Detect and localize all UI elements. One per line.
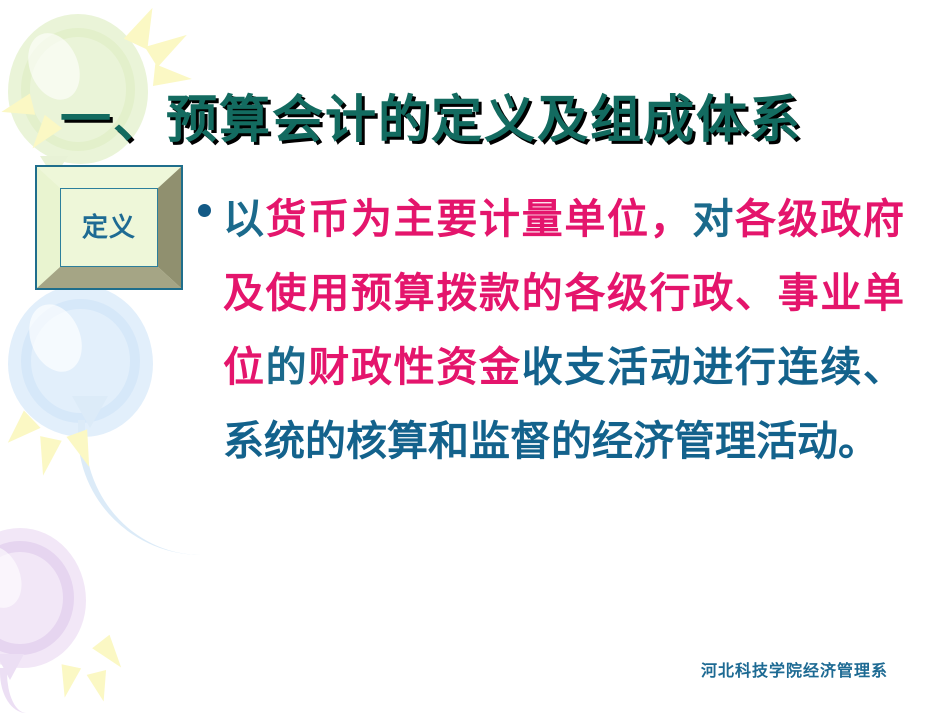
ray-icon xyxy=(24,115,62,155)
ray-icon xyxy=(0,411,41,452)
ray-icon xyxy=(55,664,81,699)
bevel-bottom xyxy=(37,267,181,288)
definition-box-label: 定义 xyxy=(82,215,136,241)
balloon-lavender-icon xyxy=(0,528,86,668)
ray-icon xyxy=(67,429,100,470)
footer-organization: 河北科技学院经济管理系 xyxy=(701,657,888,681)
text-segment: 以 xyxy=(223,195,266,243)
page-title: 一、预算会计的定义及组成体系 xyxy=(60,78,910,152)
text-segment: 货币为主要计量单位， xyxy=(266,195,693,243)
text-segment: 对 xyxy=(692,195,735,243)
balloon-blue-string-icon xyxy=(78,420,215,555)
ray-icon xyxy=(0,93,35,122)
definition-paragraph: 以货币为主要计量单位，对各级政府及使用预算拨款的各级行政、事业单位的财政性资金收… xyxy=(223,182,904,478)
ray-icon xyxy=(92,635,130,675)
bullet-dot-icon xyxy=(198,204,211,217)
balloon-lavender-knot-icon xyxy=(0,654,24,680)
text-segment: 财政性资金 xyxy=(308,343,521,391)
balloon-lavender-string-icon xyxy=(0,668,29,713)
definition-box-inner: 定义 xyxy=(60,188,158,267)
bullet-row: 以货币为主要计量单位，对各级政府及使用预算拨款的各级行政、事业单位的财政性资金收… xyxy=(198,182,904,478)
balloon-blue-knot-icon xyxy=(72,396,108,428)
slide-canvas: 一、预算会计的定义及组成体系 定义 以货币为主要计量单位，对各级政府及使用预算拨… xyxy=(0,0,950,713)
ray-icon xyxy=(32,436,61,478)
balloon-blue-icon xyxy=(8,285,153,437)
ray-icon xyxy=(87,670,114,704)
ray-icon xyxy=(124,2,164,49)
text-segment: 的 xyxy=(266,343,309,391)
ray-icon xyxy=(145,25,193,68)
definition-body: 以货币为主要计量单位，对各级政府及使用预算拨款的各级行政、事业单位的财政性资金收… xyxy=(198,182,904,478)
definition-callout-box: 定义 xyxy=(35,165,183,290)
